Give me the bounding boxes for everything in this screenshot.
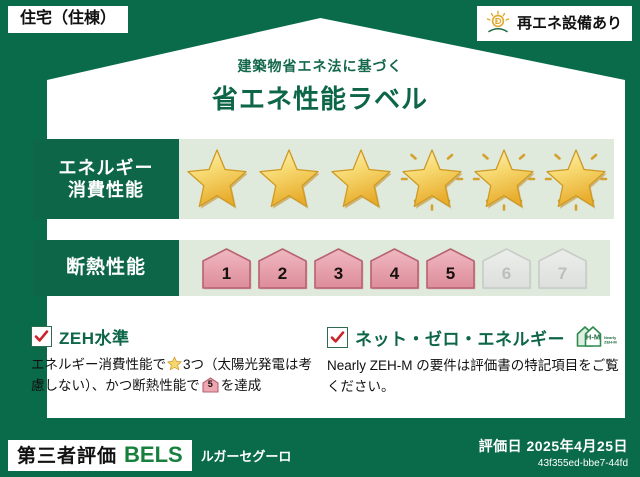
star-icon-solar bbox=[543, 146, 609, 212]
insulation-level-value: 3 bbox=[334, 264, 343, 290]
criterion-left-text-1: エネルギー消費性能で bbox=[31, 357, 166, 372]
bels-en-label: BELS bbox=[124, 444, 183, 466]
builder-name: ルガーセグーロ bbox=[201, 446, 292, 465]
insulation-level-filled: 1 bbox=[200, 246, 253, 290]
criterion-left-header: ZEH水準 bbox=[31, 324, 321, 349]
bels-badge: 第三者評価 BELS bbox=[8, 440, 192, 471]
criterion-right-title: ネット・ゼロ・エネルギー bbox=[355, 325, 565, 350]
renewable-equipment-tag: 再エネ設備あり bbox=[477, 6, 632, 41]
criterion-left-title: ZEH水準 bbox=[59, 324, 130, 349]
star-icon-filled bbox=[256, 146, 322, 212]
insulation-level-filled: 2 bbox=[256, 246, 309, 290]
energy-performance-label: 住宅（住棟） 再エネ設備あり 建築物省エネ法に基づく 省エネ性能ラベル bbox=[0, 0, 640, 477]
footer-left: 第三者評価 BELS ルガーセグーロ bbox=[8, 440, 291, 471]
evaluation-date: 評価日 2025年4月25日 bbox=[479, 436, 628, 456]
insulation-level-scale: 1 2 3 bbox=[179, 240, 610, 296]
inline-level-value: 5 bbox=[202, 377, 219, 393]
checkbox-checked-icon bbox=[31, 326, 52, 347]
criterion-right-body: Nearly ZEH-M の要件は評価書の特記項目をご覧ください。 bbox=[327, 356, 619, 398]
svg-text:ZEH-M: ZEH-M bbox=[604, 340, 617, 345]
house-type-tag-label: 住宅（住棟） bbox=[20, 10, 116, 27]
star-rating-area bbox=[179, 139, 614, 219]
checkbox-checked-icon bbox=[327, 327, 348, 348]
bels-jp-label: 第三者評価 bbox=[17, 447, 117, 466]
criterion-zeh-standard: ZEH水準 エネルギー消費性能で3つ（太陽光発電は考慮しない）、かつ断熱性能で5… bbox=[31, 324, 321, 397]
insulation-level-value: 7 bbox=[558, 264, 567, 290]
insulation-level-filled: 5 bbox=[424, 246, 477, 290]
insulation-level-filled: 4 bbox=[368, 246, 421, 290]
insulation-level-value: 5 bbox=[446, 264, 455, 290]
evaluation-id: 43f355ed-bbe7-44fd bbox=[479, 458, 628, 469]
criterion-net-zero-energy: ネット・ゼロ・エネルギー H-M Nearly ZEH-M Nearly ZEH… bbox=[327, 324, 619, 398]
footer-right: 評価日 2025年4月25日 43f355ed-bbe7-44fd bbox=[479, 436, 628, 469]
criterion-left-body: エネルギー消費性能で3つ（太陽光発電は考慮しない）、かつ断熱性能で5を達成 bbox=[31, 355, 321, 397]
svg-text:H-M: H-M bbox=[586, 333, 600, 342]
energy-label-line1: エネルギー bbox=[59, 157, 154, 180]
nearly-zeh-m-logo: H-M Nearly ZEH-M bbox=[574, 324, 620, 350]
house-type-tag: 住宅（住棟） bbox=[8, 6, 128, 33]
star-icon-filled bbox=[184, 146, 250, 212]
insulation-level-empty: 6 bbox=[480, 246, 533, 290]
insulation-performance-label: 断熱性能 bbox=[33, 240, 179, 296]
insulation-level-value: 2 bbox=[278, 264, 287, 290]
insulation-level-filled: 3 bbox=[312, 246, 365, 290]
criterion-right-header: ネット・ゼロ・エネルギー H-M Nearly ZEH-M bbox=[327, 324, 619, 350]
energy-consumption-row: エネルギー 消費性能 bbox=[33, 139, 614, 219]
inline-star-icon bbox=[167, 356, 182, 371]
energy-consumption-label: エネルギー 消費性能 bbox=[33, 139, 179, 219]
insulation-performance-row: 断熱性能 1 2 bbox=[33, 240, 610, 296]
insulation-level-empty: 7 bbox=[536, 246, 589, 290]
star-icon-solar bbox=[399, 146, 465, 212]
star-icon-filled bbox=[328, 146, 394, 212]
energy-label-line2: 消費性能 bbox=[68, 179, 144, 202]
inline-insulation-level-badge: 5 bbox=[202, 377, 219, 393]
insulation-level-value: 6 bbox=[502, 264, 511, 290]
solar-sun-icon bbox=[485, 10, 511, 36]
insulation-label-text: 断熱性能 bbox=[66, 256, 146, 280]
star-icon-solar bbox=[471, 146, 537, 212]
insulation-level-value: 4 bbox=[390, 264, 399, 290]
renewable-tag-label: 再エネ設備あり bbox=[517, 16, 622, 31]
criterion-left-text-3: を達成 bbox=[221, 378, 262, 393]
insulation-level-value: 1 bbox=[222, 264, 231, 290]
